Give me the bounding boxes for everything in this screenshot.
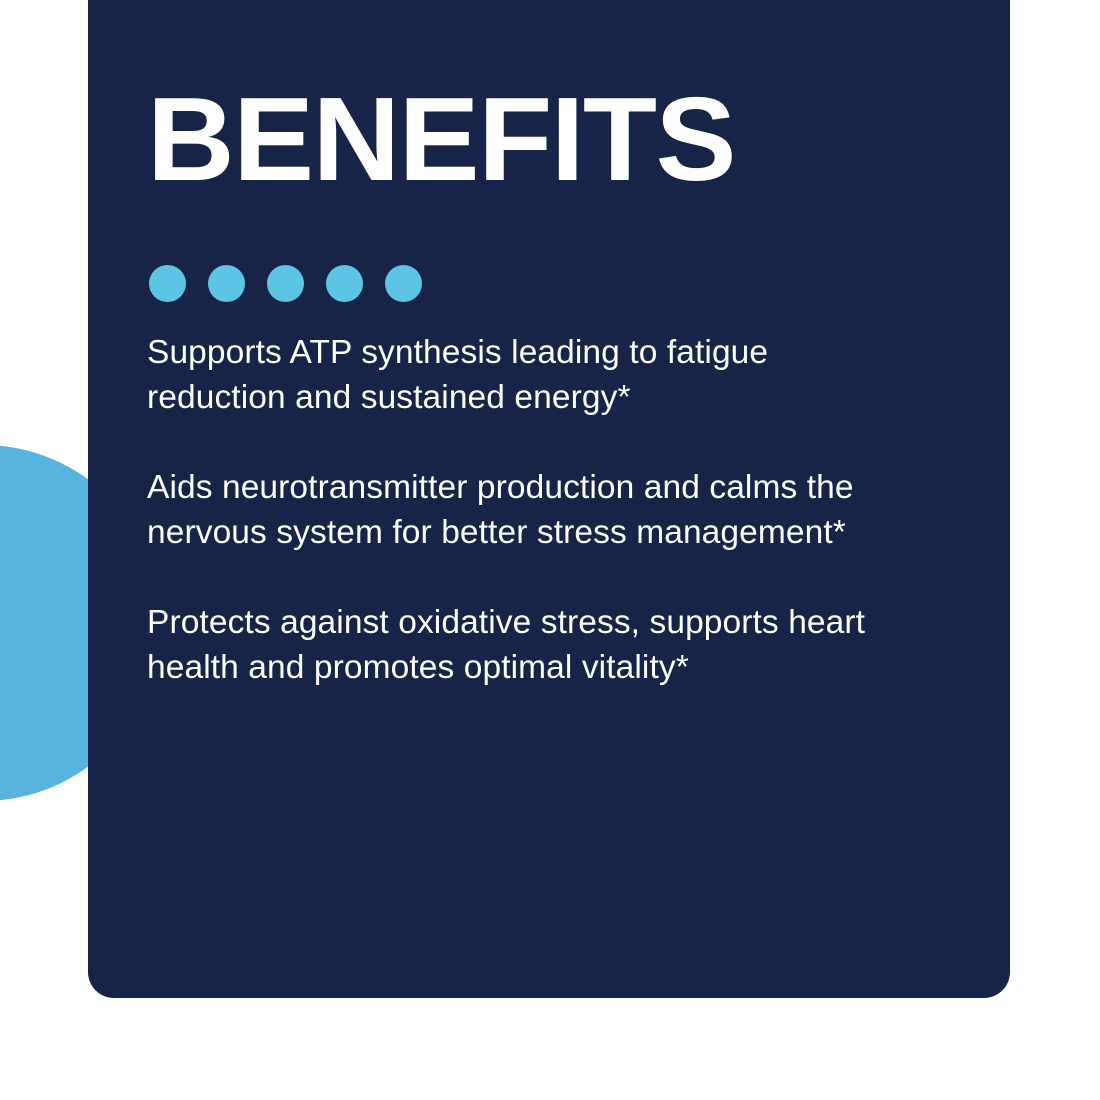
benefits-panel: BENEFITS Supports ATP synthesis leading … [0, 0, 1100, 1100]
dot-divider [149, 265, 422, 302]
decorative-dot-icon [149, 265, 186, 302]
list-item: Aids neurotransmitter production and cal… [147, 465, 907, 555]
benefits-card: BENEFITS Supports ATP synthesis leading … [88, 0, 1010, 998]
list-item: Supports ATP synthesis leading to fatigu… [147, 330, 907, 420]
decorative-dot-icon [385, 265, 422, 302]
list-item: Protects against oxidative stress, suppo… [147, 600, 907, 690]
benefits-card-content: BENEFITS Supports ATP synthesis leading … [147, 0, 970, 998]
benefits-list: Supports ATP synthesis leading to fatigu… [147, 330, 947, 690]
page-title: BENEFITS [147, 80, 735, 199]
decorative-dot-icon [326, 265, 363, 302]
decorative-dot-icon [208, 265, 245, 302]
decorative-dot-icon [267, 265, 304, 302]
